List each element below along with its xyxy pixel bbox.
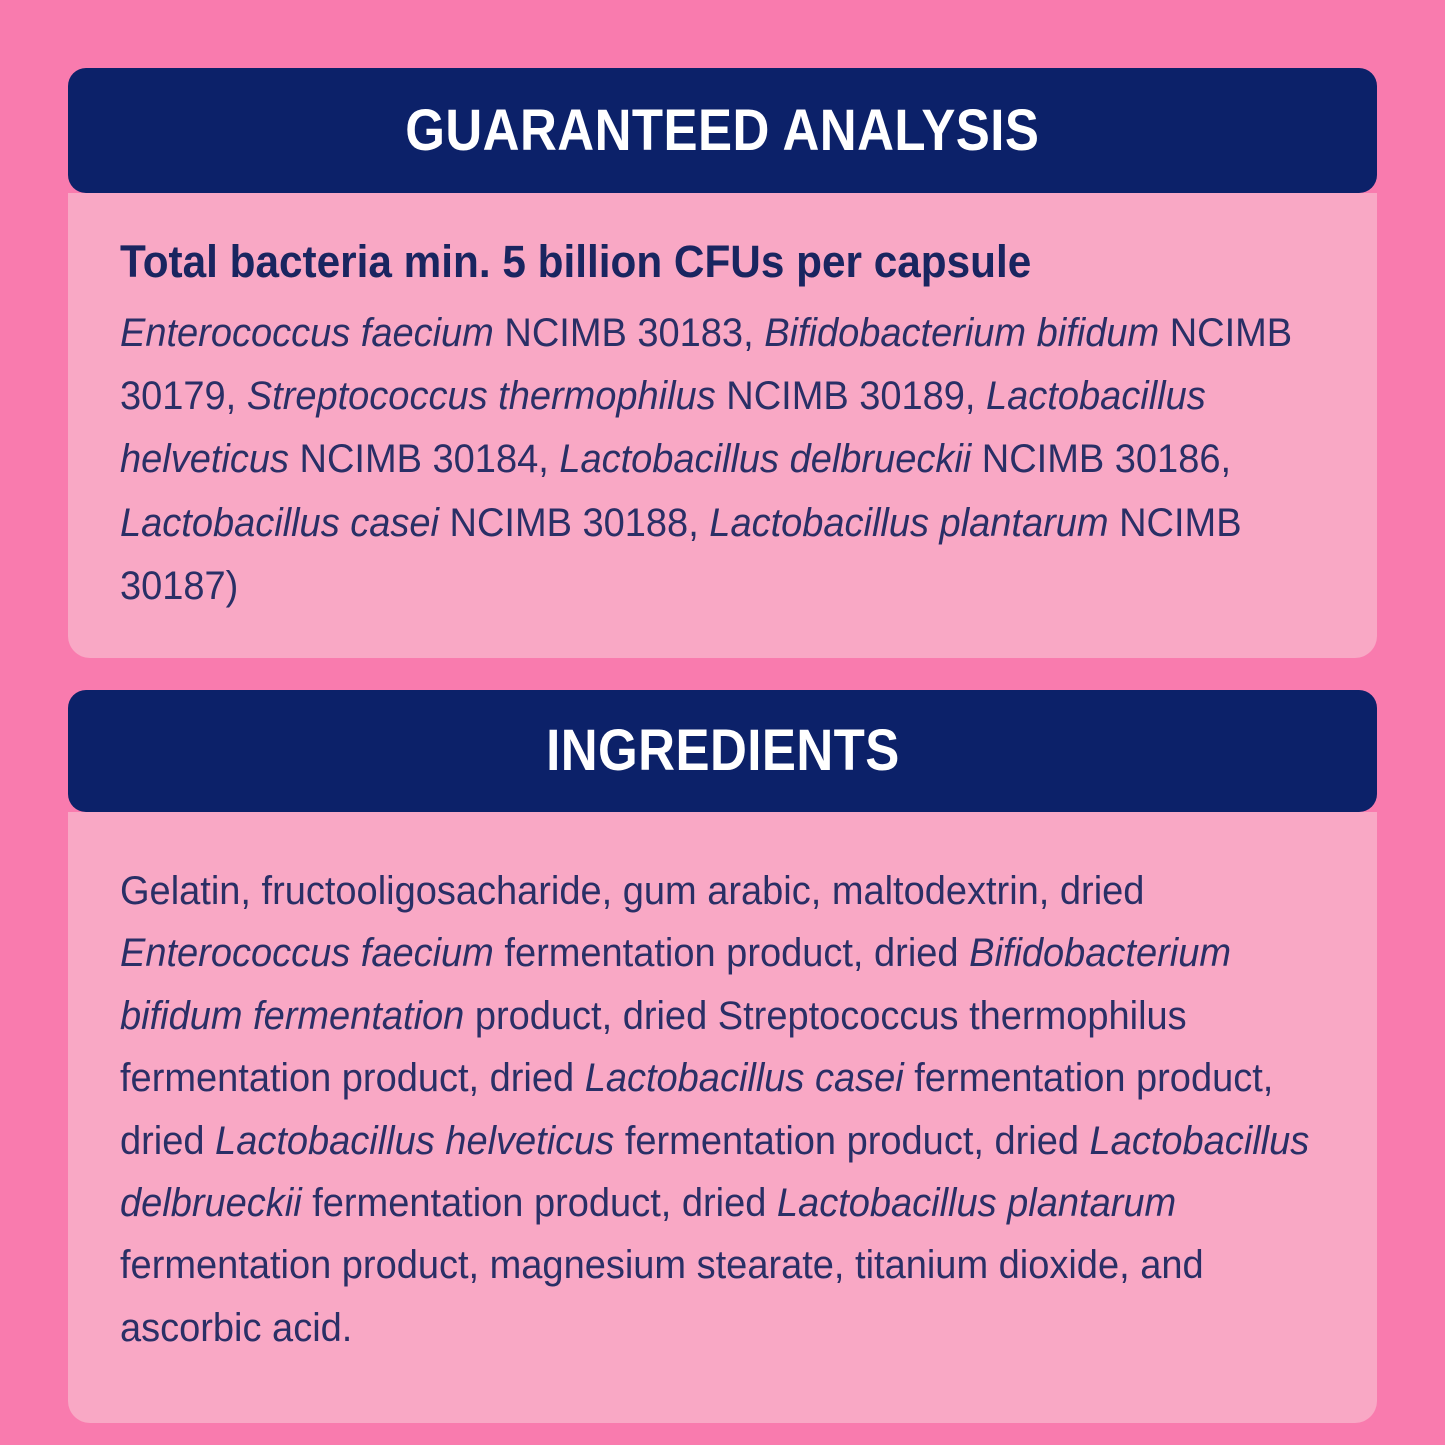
species-name: Lactobacillus plantarum — [709, 501, 1108, 545]
species-name: Enterococcus faecium — [120, 311, 494, 355]
supplement-label-page: GUARANTEED ANALYSIS Total bacteria min. … — [0, 0, 1445, 1445]
species-name: Lactobacillus casei — [585, 1056, 904, 1100]
guaranteed-analysis-title: GUARANTEED ANALYSIS — [405, 68, 1039, 193]
species-name: Lactobacillus helveticus — [215, 1119, 614, 1163]
species-name: Lactobacillus delbrueckii — [559, 437, 971, 481]
species-name: Streptococcus thermophilus — [247, 374, 716, 418]
ingredients-banner: INGREDIENTS — [68, 690, 1377, 812]
total-bacteria-headline: Total bacteria min. 5 billion CFUs per c… — [120, 235, 1253, 288]
ingredients-section: INGREDIENTS Gelatin, fructooligosacharid… — [68, 690, 1377, 1423]
guaranteed-analysis-body: Total bacteria min. 5 billion CFUs per c… — [68, 193, 1377, 658]
species-name: Bifidobacterium bifidum — [764, 311, 1159, 355]
ingredients-body: Gelatin, fructooligosacharide, gum arabi… — [68, 812, 1377, 1423]
guaranteed-analysis-section: GUARANTEED ANALYSIS Total bacteria min. … — [68, 68, 1377, 658]
text-run: NCIMB 30183, — [494, 311, 764, 355]
ingredients-text: Gelatin, fructooligosacharide, gum arabi… — [120, 860, 1322, 1359]
species-name: Enterococcus faecium — [120, 931, 494, 975]
text-run: Gelatin, fructooligosacharide, gum arabi… — [120, 869, 1144, 913]
text-run: fermentation product, magnesium stearate… — [120, 1243, 1204, 1349]
text-run: fermentation product, dried — [302, 1181, 777, 1225]
text-run: NCIMB 30188, — [439, 501, 709, 545]
ingredients-title: INGREDIENTS — [546, 690, 900, 812]
text-run: fermentation product, dried — [494, 931, 969, 975]
species-name: Lactobacillus plantarum — [777, 1181, 1176, 1225]
text-run: NCIMB 30189, — [716, 374, 986, 418]
species-name: Lactobacillus casei — [120, 501, 439, 545]
section-divider — [68, 658, 1377, 690]
text-run: NCIMB 30186, — [971, 437, 1231, 481]
text-run: fermentation product, dried — [614, 1119, 1089, 1163]
guaranteed-analysis-banner: GUARANTEED ANALYSIS — [68, 68, 1377, 193]
text-run: NCIMB 30184, — [289, 437, 559, 481]
strain-list-text: Enterococcus faecium NCIMB 30183, Bifido… — [120, 302, 1322, 618]
